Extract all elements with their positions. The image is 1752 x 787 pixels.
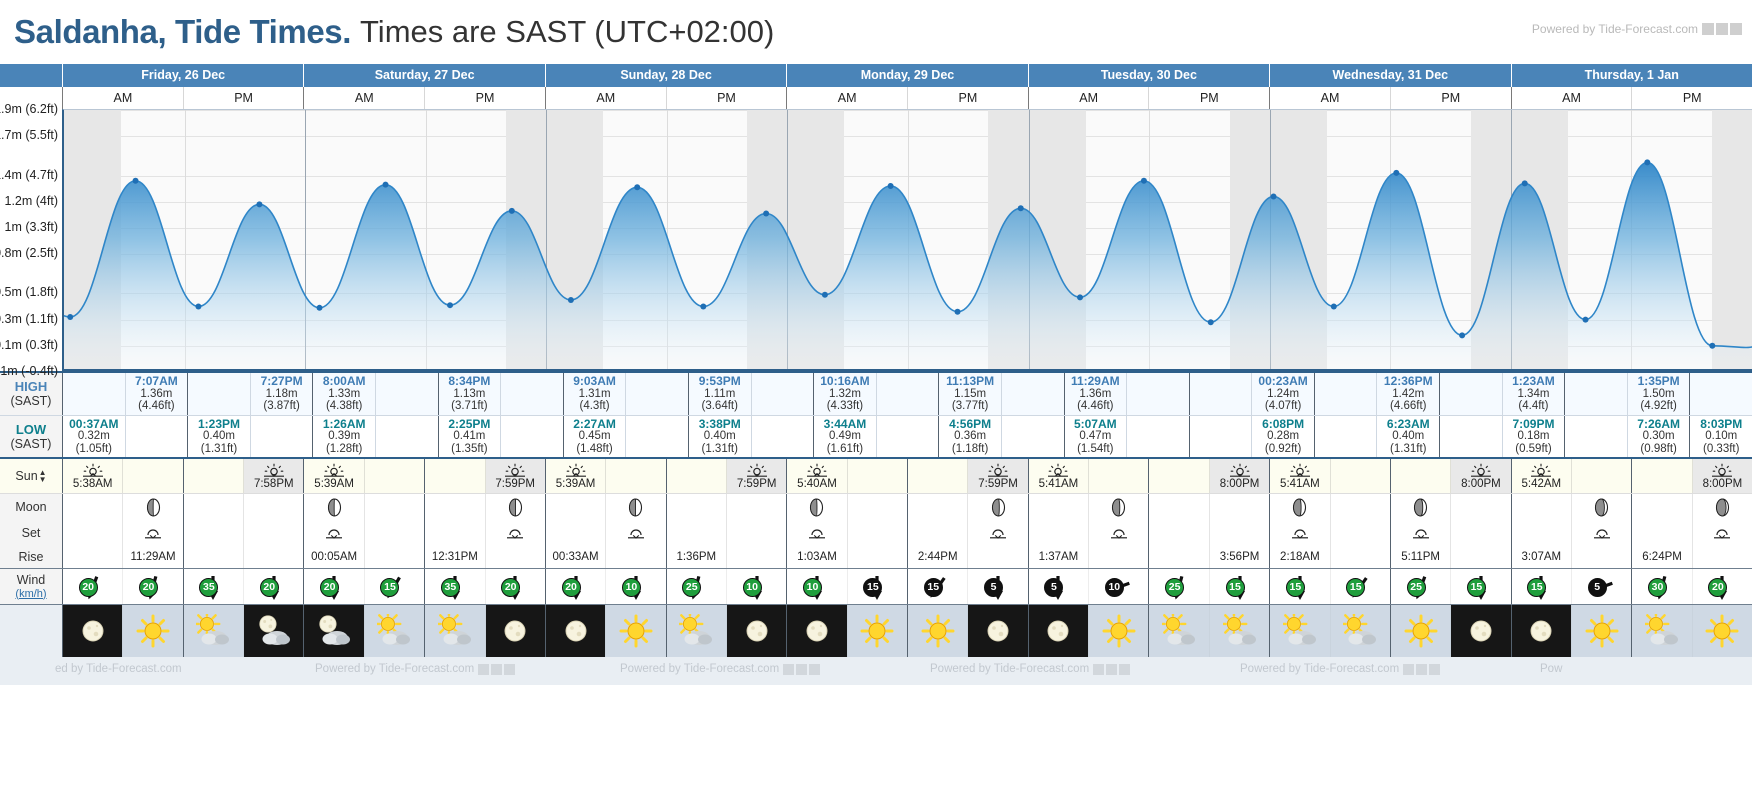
moonset-icon [1712, 526, 1732, 540]
weather-cell-0 [62, 605, 122, 657]
weather-cell-9 [605, 605, 665, 657]
low-tide-cell-6: 2:25PM0.41m(1.35ft) [438, 416, 501, 457]
sun-cloud-icon [196, 614, 230, 648]
low-tide-cell-4: 1:26AM0.39m(1.28ft) [312, 416, 375, 457]
sunrise-icon [82, 463, 104, 478]
wind-arrow-icon: 10 [800, 571, 834, 603]
wind-arrow-icon: 15 [1464, 571, 1498, 603]
high-tide-cell-10: 9:53PM1.11m(3.64ft) [688, 373, 751, 415]
moon-rise-cell-3 [243, 545, 303, 568]
moon-cell-23 [1450, 494, 1510, 520]
sun-icon [860, 614, 894, 648]
sunset-icon [1229, 463, 1251, 478]
tide-height-ft: (1.31ft) [702, 443, 738, 456]
sunrise-icon [1047, 463, 1069, 478]
weather-icons-row [0, 605, 1752, 657]
wind-cell-1: 20 [122, 569, 182, 604]
moon-cell-16 [1028, 494, 1088, 520]
tide-time: 8:00AM [323, 375, 366, 388]
high-tide-cell-11 [751, 373, 814, 415]
sun-time: 5:39AM [314, 478, 354, 490]
sun-cloud-icon [679, 614, 713, 648]
low-tide-cell-23: 7:09PM0.18m(0.59ft) [1502, 416, 1565, 457]
weather-cell-14 [907, 605, 967, 657]
weather-cell-2 [183, 605, 243, 657]
low-tide-cell-9 [625, 416, 688, 457]
page-header: Saldanha, Tide Times. Times are SAST (UT… [0, 0, 1752, 64]
sun-cell-16: 5:41AM [1028, 459, 1088, 493]
moon-rise-cell-26: 6:24PM [1631, 545, 1691, 568]
moon-set-cell-12 [786, 520, 846, 545]
tide-time: 9:53PM [699, 375, 741, 388]
y-axis-tick-3: 1.2m (4ft) [5, 194, 59, 208]
moon-rise-cell-24: 3:07AM [1511, 545, 1571, 568]
moon-rise-cell-27 [1692, 545, 1752, 568]
tide-time: 12:36PM [1384, 375, 1433, 388]
footer-logo-icon [478, 664, 515, 675]
sun-cell-21 [1330, 459, 1390, 493]
wind-speed-badge: 20 [1708, 578, 1727, 597]
moon-rise-cell-19: 3:56PM [1209, 545, 1269, 568]
sunrise-icon [323, 463, 345, 478]
tide-time: 00:23AM [1258, 375, 1307, 388]
moon-rise-cell-17 [1088, 545, 1148, 568]
high-tide-tz: (SAST) [11, 394, 52, 409]
tide-time: 4:56PM [949, 418, 991, 431]
tide-time: 1:23AM [1512, 375, 1555, 388]
tide-height-m: 1.13m [453, 388, 485, 401]
moon-cell-20 [1269, 494, 1329, 520]
sun-time: 7:59PM [737, 478, 777, 490]
moon-rise-cell-9 [605, 545, 665, 568]
high-tide-cell-16: 11:29AM1.36m(4.46ft) [1064, 373, 1127, 415]
moonset-icon [143, 526, 163, 540]
ampm-cell-9: PM [1148, 87, 1269, 109]
wind-speed-badge: 10 [622, 578, 641, 597]
high-tide-cell-15 [1001, 373, 1064, 415]
tide-height-ft: (0.92ft) [1265, 443, 1301, 456]
tide-height-m: 1.33m [328, 388, 360, 401]
wind-cell-18: 25 [1148, 569, 1208, 604]
moon-cell-13 [847, 494, 907, 520]
sunrise-icon [1289, 463, 1311, 478]
wind-speed-badge: 20 [139, 578, 158, 597]
powered-by-text: Powered by Tide-Forecast.com [1532, 22, 1698, 36]
weather-cell-19 [1209, 605, 1269, 657]
tide-height-m: 0.18m [1517, 430, 1549, 443]
weather-cell-1 [122, 605, 182, 657]
weather-cell-12 [786, 605, 846, 657]
sun-icon [921, 614, 955, 648]
moon-set-cell-25 [1571, 520, 1631, 545]
weather-cell-22 [1390, 605, 1450, 657]
tide-point-low-22 [1459, 332, 1465, 338]
moon-set-label: Set [0, 520, 62, 545]
moonset-icon [1290, 526, 1310, 540]
tide-time: 1:23PM [198, 418, 240, 431]
sun-cloud-icon [1223, 614, 1257, 648]
sun-cell-13 [847, 459, 907, 493]
moon-cell-17 [1088, 494, 1148, 520]
sun-cloud-icon [1645, 614, 1679, 648]
ampm-cell-0: AM [62, 87, 183, 109]
weather-cell-5 [364, 605, 424, 657]
moon-set-cell-13 [847, 520, 907, 545]
moon-rise-cell-8: 00:33AM [545, 545, 605, 568]
page-title: Saldanha, Tide Times. [14, 13, 351, 51]
tide-height-m: 1.15m [954, 388, 986, 401]
wind-arrow-icon: 25 [679, 571, 713, 603]
moon-set-cell-20 [1269, 520, 1329, 545]
wind-cell-27: 20 [1692, 569, 1752, 604]
weather-cell-24 [1511, 605, 1571, 657]
wind-speed-badge: 15 [1467, 578, 1486, 597]
wind-cell-0: 20 [62, 569, 122, 604]
tide-height-m: 0.40m [704, 430, 736, 443]
high-tide-row: HIGH (SAST) 7:07AM1.36m(4.46ft)7:27PM1.1… [0, 371, 1752, 415]
tide-height-m: 0.40m [1392, 430, 1424, 443]
moon-cell-8 [545, 494, 605, 520]
sun-time: 5:41AM [1039, 478, 1079, 490]
sun-cell-25 [1571, 459, 1631, 493]
tide-height-ft: (3.64ft) [702, 400, 738, 413]
y-axis-tick-6: 0.5m (1.8ft) [0, 285, 58, 299]
tide-point-low-18 [1208, 319, 1214, 325]
timezone-label: Times are SAST (UTC+02:00) [360, 14, 774, 50]
sunset-icon [746, 463, 768, 478]
sun-cell-14 [907, 459, 967, 493]
wind-cell-2: 35 [183, 569, 243, 604]
low-tide-cell-16: 5:07AM0.47m(1.54ft) [1064, 416, 1127, 457]
moon-set-cell-2 [183, 520, 243, 545]
moon-set-cell-27 [1692, 520, 1752, 545]
tide-height-ft: (1.31ft) [1390, 443, 1426, 456]
y-axis-tick-1: 1.7m (5.5ft) [0, 128, 58, 142]
wind-cell-9: 10 [605, 569, 665, 604]
weather-cell-13 [847, 605, 907, 657]
wind-arrow-icon: 35 [438, 571, 472, 603]
weather-cell-25 [1571, 605, 1631, 657]
tide-height-ft: (1.35ft) [451, 443, 487, 456]
wind-cell-15: 5 [967, 569, 1027, 604]
tide-height-m: 0.47m [1079, 430, 1111, 443]
tide-height-m: 0.36m [954, 430, 986, 443]
high-tide-cell-18 [1189, 373, 1252, 415]
low-tide-label-text: LOW [16, 422, 46, 437]
moon-set-cell-3 [243, 520, 303, 545]
tide-point-low-24 [1583, 317, 1589, 323]
weather-cell-27 [1692, 605, 1752, 657]
low-tide-cell-5 [375, 416, 438, 457]
tide-height-m: 1.50m [1643, 388, 1675, 401]
moon-phase-icon [1413, 498, 1428, 517]
moon-rise-cell-5 [364, 545, 424, 568]
moon-rise-cell-14: 2:44PM [907, 545, 967, 568]
tide-height-ft: (4.46ft) [138, 400, 174, 413]
wind-cell-22: 25 [1390, 569, 1450, 604]
tide-point-high-1 [133, 178, 139, 184]
tide-forecast-page: Saldanha, Tide Times. Times are SAST (UT… [0, 0, 1752, 787]
weather-cell-4 [303, 605, 363, 657]
moon-rise-cell-1: 11:29AM [122, 545, 182, 568]
sun-cell-23: 8:00PM [1450, 459, 1510, 493]
sun-row: Sun ▲▼ 5:38AM 7:58PM [0, 459, 1752, 494]
wind-cell-12: 10 [786, 569, 846, 604]
ampm-cell-4: AM [545, 87, 666, 109]
low-tide-cell-3 [250, 416, 313, 457]
sun-cell-20: 5:41AM [1269, 459, 1329, 493]
sun-time: 7:59PM [495, 478, 535, 490]
tide-height-m: 0.28m [1267, 430, 1299, 443]
tide-height-m: 1.11m [704, 388, 735, 401]
wind-speed-badge: 30 [1648, 578, 1667, 597]
moon-icon [1464, 614, 1498, 648]
low-tide-cell-22 [1439, 416, 1502, 457]
moon-cloud-icon [317, 614, 351, 648]
ampm-cell-6: AM [786, 87, 907, 109]
tide-point-high-21 [1393, 170, 1399, 176]
tide-point-low-10 [700, 304, 706, 310]
tide-height-ft: (3.87ft) [263, 400, 299, 413]
moon-icon [800, 614, 834, 648]
tide-height-ft: (1.05ft) [76, 443, 112, 456]
high-tide-cell-20 [1314, 373, 1377, 415]
low-tide-cell-7 [500, 416, 563, 457]
wind-speed-badge: 10 [1105, 578, 1124, 597]
low-tide-cell-21: 6:23AM0.40m(1.31ft) [1376, 416, 1439, 457]
high-tide-cell-19: 00:23AM1.24m(4.07ft) [1251, 373, 1314, 415]
moon-set-cell-22 [1390, 520, 1450, 545]
moon-set-cell-14 [907, 520, 967, 545]
moon-icon [1041, 614, 1075, 648]
weather-cell-23 [1450, 605, 1510, 657]
tide-time: 6:23AM [1387, 418, 1430, 431]
tide-height-m: 0.45m [579, 430, 611, 443]
tide-chart-plot [62, 109, 1752, 371]
moonset-icon [626, 526, 646, 540]
moon-set-cell-0 [62, 520, 122, 545]
tide-height-m: 1.31m [579, 388, 611, 401]
sunset-icon [987, 463, 1009, 478]
wind-arrow-icon: 15 [1343, 571, 1377, 603]
moon-cell-12 [786, 494, 846, 520]
wind-arrow-icon: 15 [1223, 571, 1257, 603]
weather-cell-18 [1148, 605, 1208, 657]
tide-height-ft: (4.46ft) [1077, 400, 1113, 413]
day-header-0: Friday, 26 Dec [62, 64, 303, 87]
high-tide-cell-26 [1689, 373, 1752, 415]
wind-cell-21: 15 [1330, 569, 1390, 604]
tide-height-m: 0.49m [829, 430, 861, 443]
moon-set-cell-24 [1511, 520, 1571, 545]
tide-height-ft: (1.48ft) [576, 443, 612, 456]
tide-height-ft: (4.4ft) [1518, 400, 1548, 413]
day-header-5: Wednesday, 31 Dec [1269, 64, 1510, 87]
footer-watermark-text: Powered by Tide-Forecast.com [315, 663, 474, 675]
sun-icon [1585, 614, 1619, 648]
sun-label: Sun ▲▼ [0, 459, 62, 493]
sun-cloud-icon [1343, 614, 1377, 648]
moon-set-cell-5 [364, 520, 424, 545]
sun-time: 5:38AM [73, 478, 113, 490]
wind-speed-badge: 5 [1044, 578, 1063, 597]
moonset-icon [1411, 526, 1431, 540]
tide-height-ft: (3.77ft) [952, 400, 988, 413]
low-tide-cell-14: 4:56PM0.36m(1.18ft) [938, 416, 1001, 457]
moon-rise-cell-22: 5:11PM [1390, 545, 1450, 568]
high-tide-cell-12: 10:16AM1.32m(4.33ft) [813, 373, 876, 415]
tide-height-ft: (4.38ft) [326, 400, 362, 413]
tide-height-ft: (4.33ft) [827, 400, 863, 413]
moon-cell-14 [907, 494, 967, 520]
sun-icon [136, 614, 170, 648]
tide-height-ft: (1.61ft) [827, 443, 863, 456]
wind-cell-20: 15 [1269, 569, 1329, 604]
tide-point-low-20 [1331, 304, 1337, 310]
wind-cell-5: 15 [364, 569, 424, 604]
sun-label-text: Sun [15, 469, 37, 483]
ampm-cell-1: PM [183, 87, 304, 109]
tide-time: 3:38PM [699, 418, 741, 431]
moon-rise-cell-16: 1:37AM [1028, 545, 1088, 568]
tide-curve-svg [64, 110, 1752, 371]
weather-cell-11 [726, 605, 786, 657]
weather-cell-3 [243, 605, 303, 657]
moon-phase-icon [1715, 498, 1730, 517]
y-axis-tick-8: 0.1m (0.3ft) [0, 338, 58, 352]
low-tide-cell-17 [1126, 416, 1189, 457]
high-tide-cell-21: 12:36PM1.42m(4.66ft) [1376, 373, 1439, 415]
wind-speed-badge: 5 [984, 578, 1003, 597]
wind-speed-badge: 10 [743, 578, 762, 597]
tide-point-high-17 [1141, 178, 1147, 184]
sun-cell-12: 5:40AM [786, 459, 846, 493]
footer-watermark-text: Pow [1540, 663, 1562, 675]
low-tide-cell-18 [1189, 416, 1252, 457]
wind-speed-badge: 20 [79, 578, 98, 597]
wind-arrow-icon: 20 [317, 571, 351, 603]
moon-rise-cell-0 [62, 545, 122, 568]
sun-time: 5:39AM [556, 478, 596, 490]
wind-arrow-icon: 20 [498, 571, 532, 603]
day-header-row: Friday, 26 DecSaturday, 27 DecSunday, 28… [0, 64, 1752, 87]
moon-icon [740, 614, 774, 648]
sun-cell-5 [364, 459, 424, 493]
footer-logo-icon [783, 664, 820, 675]
wind-arrow-icon: 5 [1585, 571, 1619, 603]
tide-height-ft: (4.92ft) [1640, 400, 1676, 413]
y-axis-tick-5: 0.8m (2.5ft) [0, 246, 58, 260]
moon-cell-19 [1209, 494, 1269, 520]
sun-cloud-icon [1162, 614, 1196, 648]
footer-watermark-0: ed by Tide-Forecast.com [55, 663, 182, 675]
tide-height-ft: (1.54ft) [1077, 443, 1113, 456]
ampm-cell-5: PM [666, 87, 787, 109]
tide-height-ft: (0.33ft) [1703, 443, 1739, 456]
sunset-icon [263, 463, 285, 478]
tide-height-m: 1.32m [829, 388, 861, 401]
sun-arrows-icon: ▲▼ [39, 469, 47, 483]
low-tide-cell-12: 3:44AM0.49m(1.61ft) [813, 416, 876, 457]
tide-time: 2:27AM [573, 418, 616, 431]
wind-speed-badge: 20 [501, 578, 520, 597]
day-header-6: Thursday, 1 Jan [1511, 64, 1752, 87]
low-tide-cell-25: 7:26AM0.30m(0.98ft) [1627, 416, 1690, 457]
tide-chart-y-axis: 1.9m (6.2ft)1.7m (5.5ft)1.4m (4.7ft)1.2m… [0, 109, 62, 371]
tide-point-high-25 [1644, 159, 1650, 165]
moon-set-cell-11 [726, 520, 786, 545]
sun-cell-7: 7:59PM [485, 459, 545, 493]
moon-cell-10 [666, 494, 726, 520]
tide-time: 6:08PM [1262, 418, 1304, 431]
moon-set-row: Set [0, 520, 1752, 545]
wind-row: Wind (km/h) 20 20 35 20 20 [0, 569, 1752, 605]
moon-cell-6 [424, 494, 484, 520]
wind-arrow-icon: 25 [1162, 571, 1196, 603]
tide-point-low-14 [955, 309, 961, 315]
tide-time: 00:37AM [69, 418, 118, 431]
wind-arrow-icon: 20 [1705, 571, 1739, 603]
moon-cell-24 [1511, 494, 1571, 520]
low-tide-cell-11 [751, 416, 814, 457]
wind-speed-badge: 25 [1165, 578, 1184, 597]
y-axis-tick-7: 0.3m (1.1ft) [0, 312, 58, 326]
sun-cell-9 [605, 459, 665, 493]
wind-speed-badge: 25 [1407, 578, 1426, 597]
wind-arrow-icon: 15 [1524, 571, 1558, 603]
sun-cloud-icon [438, 614, 472, 648]
low-tide-cell-15 [1001, 416, 1064, 457]
wind-cell-17: 10 [1088, 569, 1148, 604]
tide-time: 7:26AM [1637, 418, 1680, 431]
sun-cell-26 [1631, 459, 1691, 493]
footer-watermark-text: Powered by Tide-Forecast.com [1240, 663, 1399, 675]
ampm-header-row: AMPMAMPMAMPMAMPMAMPMAMPMAMPM [0, 87, 1752, 109]
moon-cell-3 [243, 494, 303, 520]
sun-cell-4: 5:39AM [303, 459, 363, 493]
moon-set-cell-26 [1631, 520, 1691, 545]
wind-cell-14: 15 [907, 569, 967, 604]
wind-arrow-icon: 15 [860, 571, 894, 603]
moon-cell-5 [364, 494, 424, 520]
weather-cell-17 [1088, 605, 1148, 657]
footer-logo-icon [1403, 664, 1440, 675]
moon-cell-26 [1631, 494, 1691, 520]
moon-cell-9 [605, 494, 665, 520]
tide-point-high-7 [509, 208, 515, 214]
tide-time: 11:13PM [946, 375, 994, 388]
moon-set-cell-15 [967, 520, 1027, 545]
tide-height-m: 0.10m [1705, 430, 1737, 443]
ampm-cell-8: AM [1028, 87, 1149, 109]
sun-icon [1705, 614, 1739, 648]
tide-point-low-26 [1709, 343, 1715, 349]
moon-rise-cell-25 [1571, 545, 1631, 568]
sun-time: 5:40AM [797, 478, 837, 490]
moon-phase-icon [146, 498, 161, 517]
tide-height-ft: (0.98ft) [1640, 443, 1676, 456]
moon-rise-row: Rise 11:29AM00:05AM12:31PM00:33AM1:36PM1… [0, 545, 1752, 569]
wind-speed-badge: 20 [320, 578, 339, 597]
sun-time: 8:00PM [1703, 478, 1743, 490]
moon-rise-cell-23 [1450, 545, 1510, 568]
wind-cell-13: 15 [847, 569, 907, 604]
moon-cell-11 [726, 494, 786, 520]
ampm-cell-3: PM [424, 87, 545, 109]
sun-cell-11: 7:59PM [726, 459, 786, 493]
wind-unit-link[interactable]: (km/h) [15, 587, 46, 601]
low-tide-cell-10: 3:38PM0.40m(1.31ft) [688, 416, 751, 457]
